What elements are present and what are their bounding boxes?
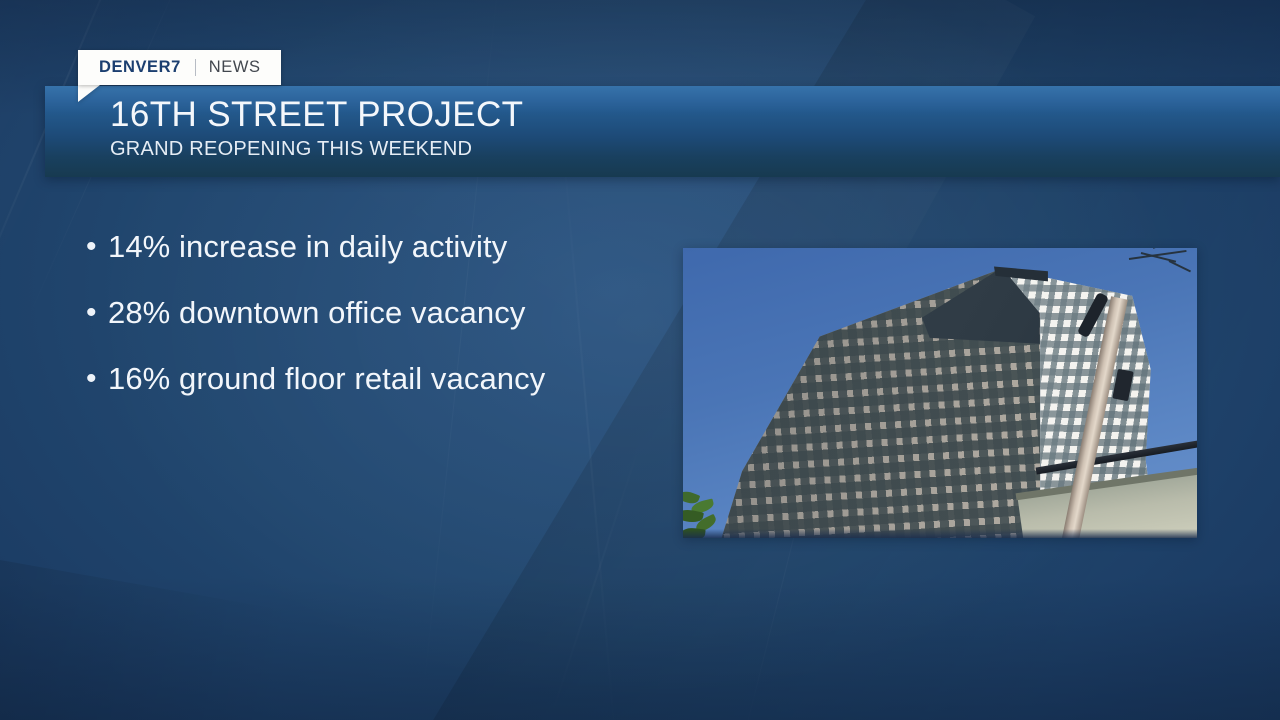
brand-section-label: NEWS xyxy=(209,58,261,77)
brand-badge-tail xyxy=(78,85,100,102)
brand-separator xyxy=(195,59,196,76)
bullet-text: 28% downtown office vacancy xyxy=(108,294,525,331)
list-item: • 28% downtown office vacancy xyxy=(86,294,686,331)
brand-badge: DENVER7 NEWS xyxy=(78,50,281,85)
headline-banner: 16TH STREET PROJECT GRAND REOPENING THIS… xyxy=(45,86,1280,177)
bullet-marker-icon: • xyxy=(86,228,108,265)
bullet-text: 16% ground floor retail vacancy xyxy=(108,360,545,397)
bullet-marker-icon: • xyxy=(86,360,108,397)
twig-shape xyxy=(1129,250,1187,260)
broadcast-graphic: 16TH STREET PROJECT GRAND REOPENING THIS… xyxy=(0,0,1280,720)
bullet-text: 14% increase in daily activity xyxy=(108,228,507,265)
headline-title: 16TH STREET PROJECT xyxy=(110,94,523,136)
headline-subtitle: GRAND REOPENING THIS WEEKEND xyxy=(110,137,523,162)
list-item: • 14% increase in daily activity xyxy=(86,228,686,265)
headline-text-group: 16TH STREET PROJECT GRAND REOPENING THIS… xyxy=(110,94,523,162)
list-item: • 16% ground floor retail vacancy xyxy=(86,360,686,397)
twig-shape xyxy=(1169,260,1191,272)
bullet-list: • 14% increase in daily activity • 28% d… xyxy=(86,228,686,426)
news-photo xyxy=(683,248,1197,538)
brand-name: DENVER7 xyxy=(99,58,181,77)
photo-bottom-shadow xyxy=(683,529,1197,538)
photo-tree-branch xyxy=(1123,248,1197,272)
bullet-marker-icon: • xyxy=(86,294,108,331)
twig-shape xyxy=(1153,248,1178,249)
